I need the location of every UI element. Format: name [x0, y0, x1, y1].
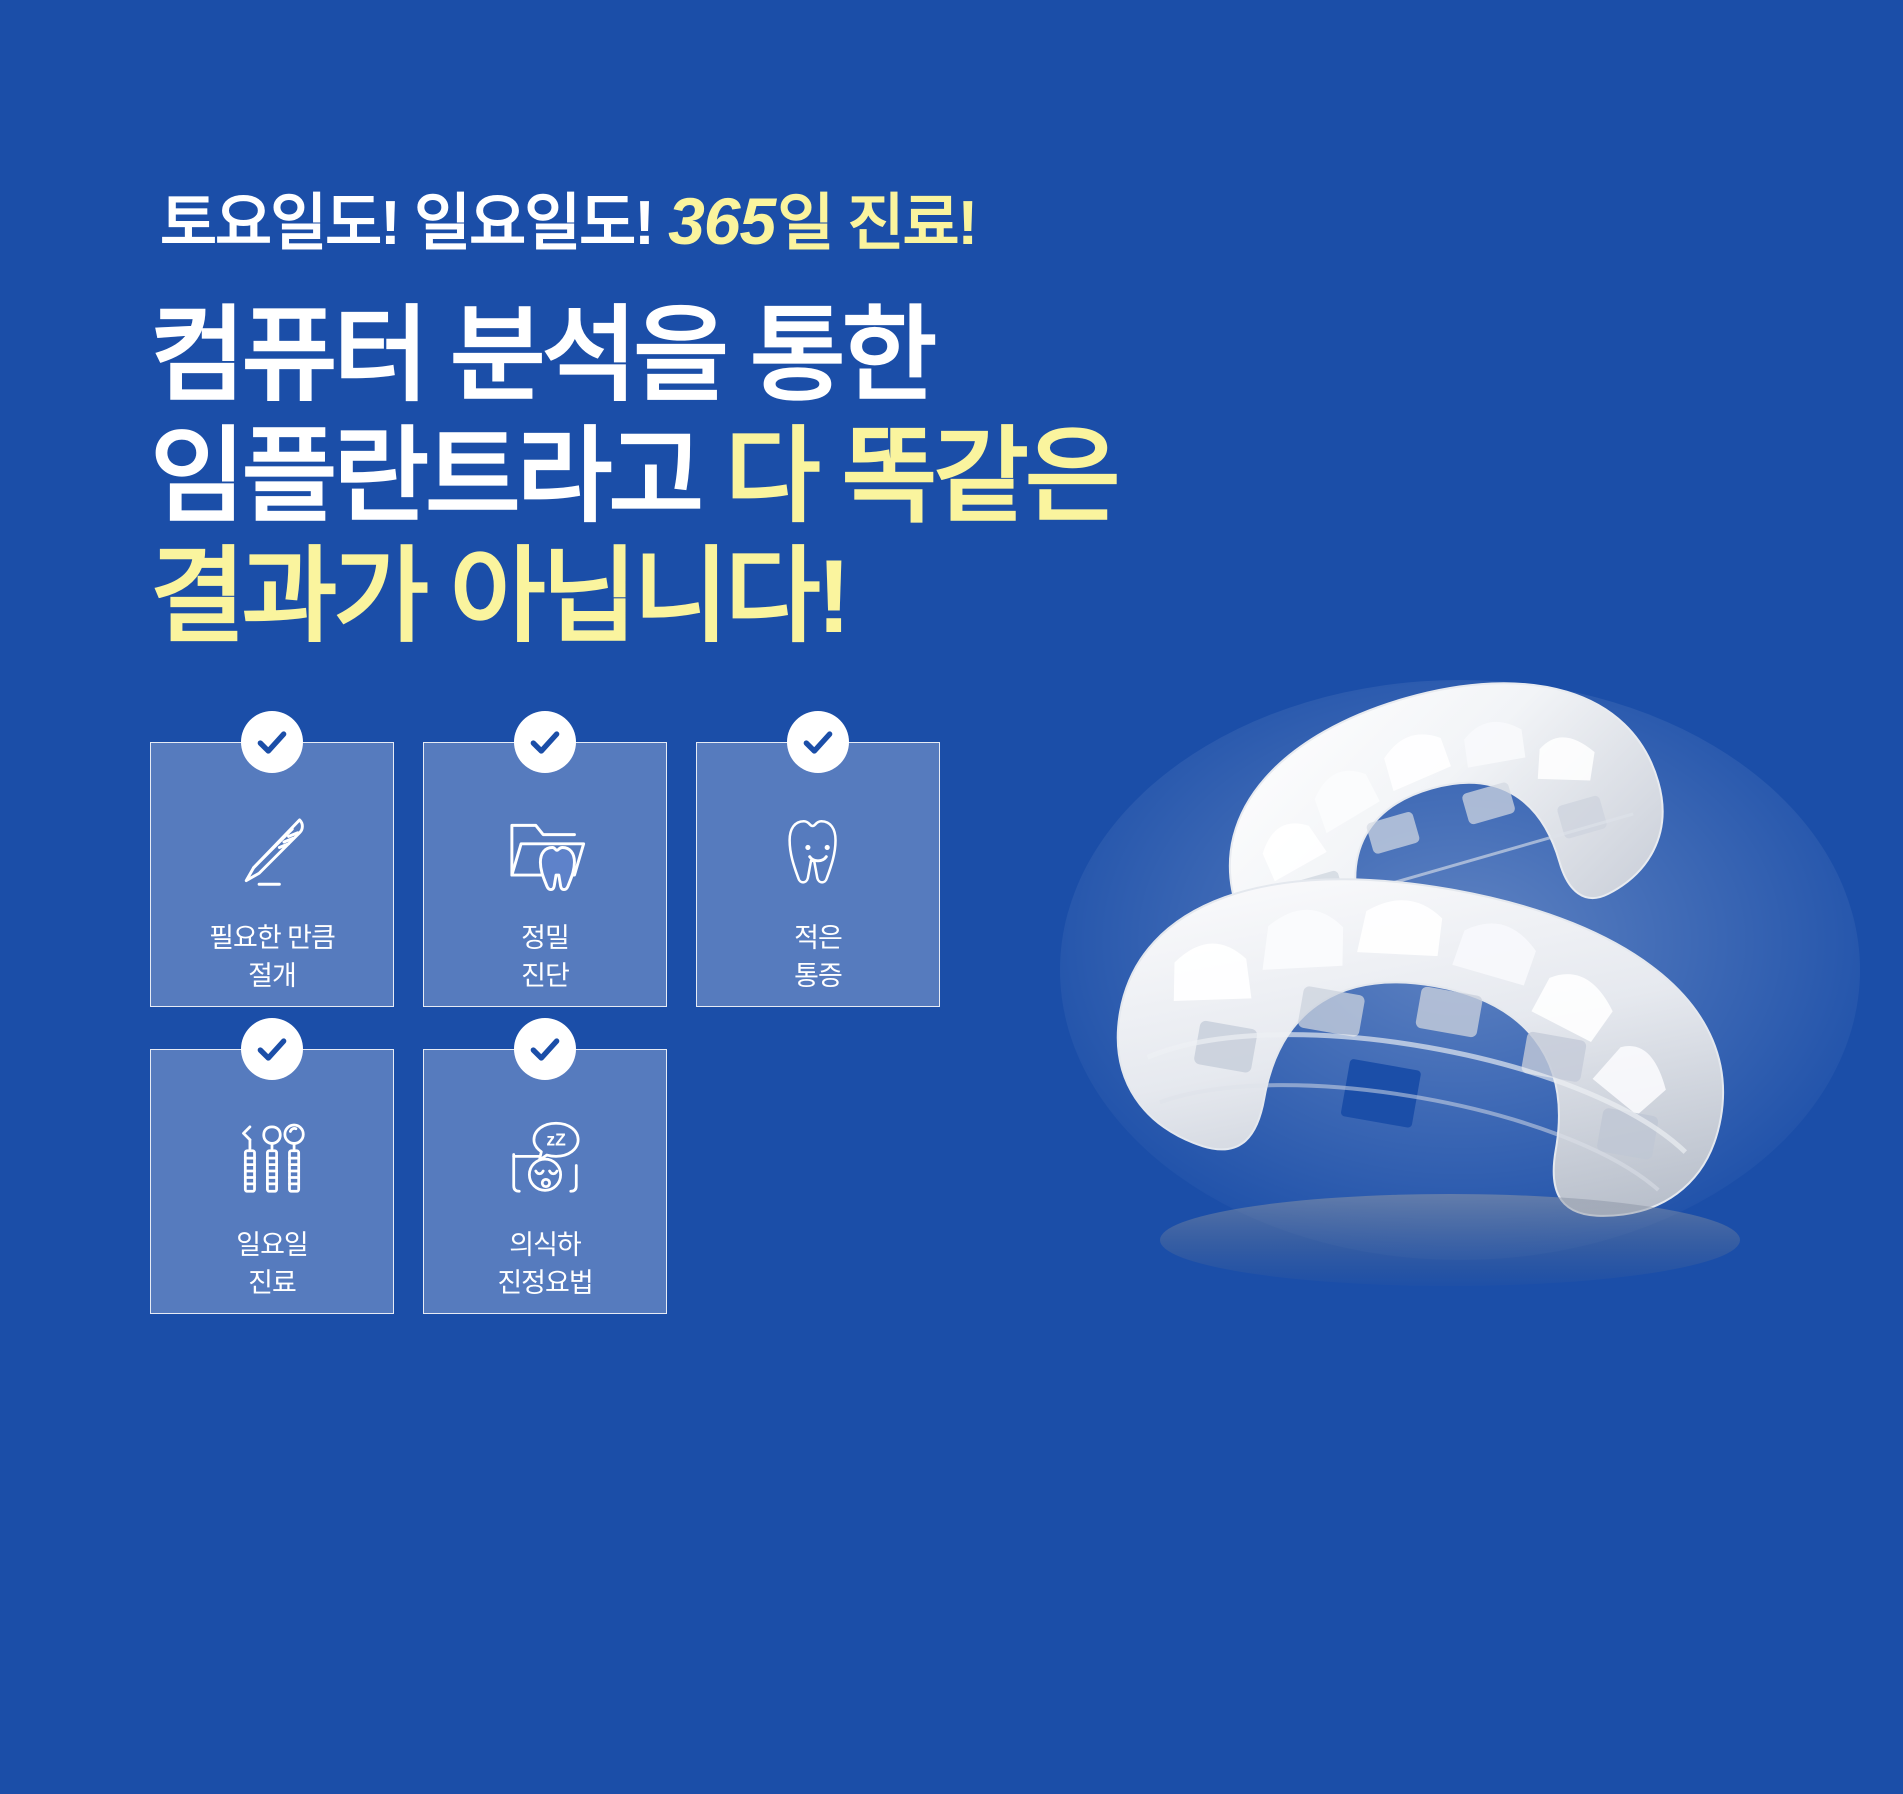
feature-card-row-2: 일요일 진료 zZ [150, 1049, 940, 1314]
eyebrow-number: 365 [668, 184, 777, 258]
feature-card-row-1: 필요한 만큼 절개 정밀 진단 [150, 742, 940, 1007]
headline-line-1: 컴퓨터 분석을 통한 [150, 296, 1117, 417]
check-icon [241, 1018, 303, 1080]
feature-card-label: 일요일 진료 [236, 1226, 308, 1303]
eyebrow-yellow-tail: 일 진료! [777, 189, 976, 258]
scalpel-icon [226, 807, 318, 899]
feature-card-label: 적은 통증 [794, 919, 842, 996]
smiling-tooth-icon [772, 807, 864, 899]
page-title: 컴퓨터 분석을 통한 임플란트라고 다 똑같은 결과가 아닙니다! [150, 296, 1117, 658]
eyebrow-text: 토요일도! 일요일도! 365일 진료! [160, 188, 976, 255]
feature-card-label: 의식하 진정요법 [497, 1226, 592, 1303]
feature-card-label: 정밀 진단 [521, 919, 569, 996]
check-icon [787, 711, 849, 773]
headline-line-3: 결과가 아닙니다! [150, 537, 1117, 658]
feature-card-sunday-treatment[interactable]: 일요일 진료 [150, 1049, 394, 1314]
headline-line-1-text: 컴퓨터 분석을 통한 [150, 298, 933, 414]
check-icon [514, 711, 576, 773]
headline-line-3-text: 결과가 아닙니다! [150, 539, 847, 655]
headline-line-2: 임플란트라고 다 똑같은 [150, 417, 1117, 538]
eyebrow-white-part: 토요일도! 일요일도! [160, 189, 653, 258]
feature-card-label: 필요한 만큼 절개 [209, 919, 335, 996]
headline-line-2-white: 임플란트라고 [150, 419, 725, 535]
feature-card-less-pain[interactable]: 적은 통증 [696, 742, 940, 1007]
dental-tools-icon [226, 1114, 318, 1206]
feature-card-precise-diagnosis[interactable]: 정밀 진단 [423, 742, 667, 1007]
check-icon [241, 711, 303, 773]
feature-card-grid: 필요한 만큼 절개 정밀 진단 [150, 742, 940, 1314]
check-icon [514, 1018, 576, 1080]
feature-card-conscious-sedation[interactable]: zZ 의식하 진정요법 [423, 1049, 667, 1314]
dental-surgical-guide-model [1020, 640, 1903, 1320]
promo-banner: 토요일도! 일요일도! 365일 진료! 컴퓨터 분석을 통한 임플란트라고 다… [0, 0, 1903, 1794]
svg-text:zZ: zZ [546, 1129, 566, 1149]
feature-card-minimal-incision[interactable]: 필요한 만큼 절개 [150, 742, 394, 1007]
sedation-sleep-icon: zZ [499, 1114, 591, 1206]
headline-line-2-yellow: 다 똑같은 [725, 419, 1117, 535]
folder-tooth-icon [499, 807, 591, 899]
